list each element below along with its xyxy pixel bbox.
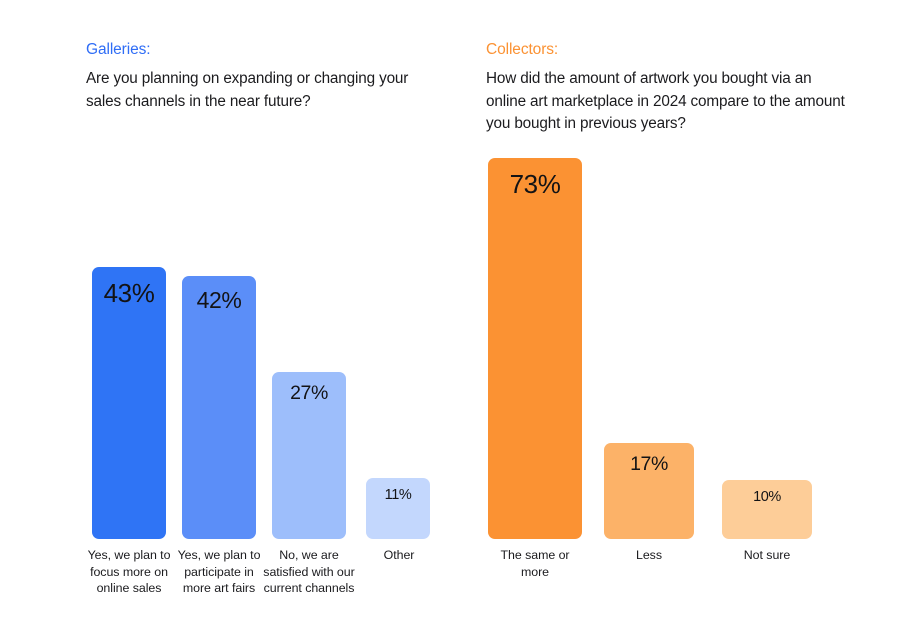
bar-group-galleries-1: 43% bbox=[92, 140, 166, 539]
bar-group-collectors-1: 73% bbox=[488, 140, 582, 539]
bar-galleries-1[interactable]: 43% bbox=[92, 267, 166, 539]
panel-collectors-header: Collectors: How did the amount of artwor… bbox=[486, 40, 854, 136]
bar-group-galleries-3: 27% bbox=[272, 140, 346, 539]
axis-label-collectors-1: The same or more bbox=[487, 547, 583, 580]
axis-label-galleries-4: Other bbox=[364, 547, 434, 564]
bar-collectors-3[interactable]: 10% bbox=[722, 480, 812, 539]
bar-value-collectors-2: 17% bbox=[604, 453, 694, 476]
bar-group-collectors-2: 17% bbox=[604, 140, 694, 539]
bar-value-galleries-3: 27% bbox=[272, 382, 346, 405]
bar-value-galleries-1: 43% bbox=[92, 278, 166, 309]
bar-group-collectors-3: 10% bbox=[722, 140, 812, 539]
axis-label-galleries-2: Yes, we plan to participate in more art … bbox=[172, 547, 266, 597]
axis-label-galleries-3: No, we are satisfied with our current ch… bbox=[262, 547, 356, 597]
chart-canvas: Galleries: Are you planning on expanding… bbox=[0, 0, 910, 638]
panel-collectors: Collectors: How did the amount of artwor… bbox=[486, 0, 886, 638]
bar-value-galleries-2: 42% bbox=[182, 287, 256, 314]
bar-collectors-2[interactable]: 17% bbox=[604, 443, 694, 539]
category-label-galleries: Galleries: bbox=[86, 40, 446, 60]
bar-value-collectors-3: 10% bbox=[722, 489, 812, 505]
bar-galleries-2[interactable]: 42% bbox=[182, 276, 256, 539]
bar-group-galleries-4: 11% bbox=[366, 140, 430, 539]
plot-area-galleries: 43% 42% 27% 11% bbox=[86, 140, 476, 539]
panel-galleries-header: Galleries: Are you planning on expanding… bbox=[86, 40, 446, 113]
panel-galleries: Galleries: Are you planning on expanding… bbox=[86, 0, 476, 638]
plot-area-collectors: 73% 17% 10% bbox=[486, 140, 886, 539]
axis-label-collectors-3: Not sure bbox=[722, 547, 812, 564]
axis-label-galleries-1: Yes, we plan to focus more on online sal… bbox=[82, 547, 176, 597]
question-text-collectors: How did the amount of artwork you bought… bbox=[486, 68, 854, 136]
bar-galleries-4[interactable]: 11% bbox=[366, 478, 430, 539]
bar-group-galleries-2: 42% bbox=[182, 140, 256, 539]
bar-value-galleries-4: 11% bbox=[366, 487, 430, 503]
bar-value-collectors-1: 73% bbox=[488, 169, 582, 200]
bar-galleries-3[interactable]: 27% bbox=[272, 372, 346, 539]
axis-label-collectors-2: Less bbox=[604, 547, 694, 564]
category-label-collectors: Collectors: bbox=[486, 40, 854, 60]
bar-collectors-1[interactable]: 73% bbox=[488, 158, 582, 539]
question-text-galleries: Are you planning on expanding or changin… bbox=[86, 68, 446, 113]
